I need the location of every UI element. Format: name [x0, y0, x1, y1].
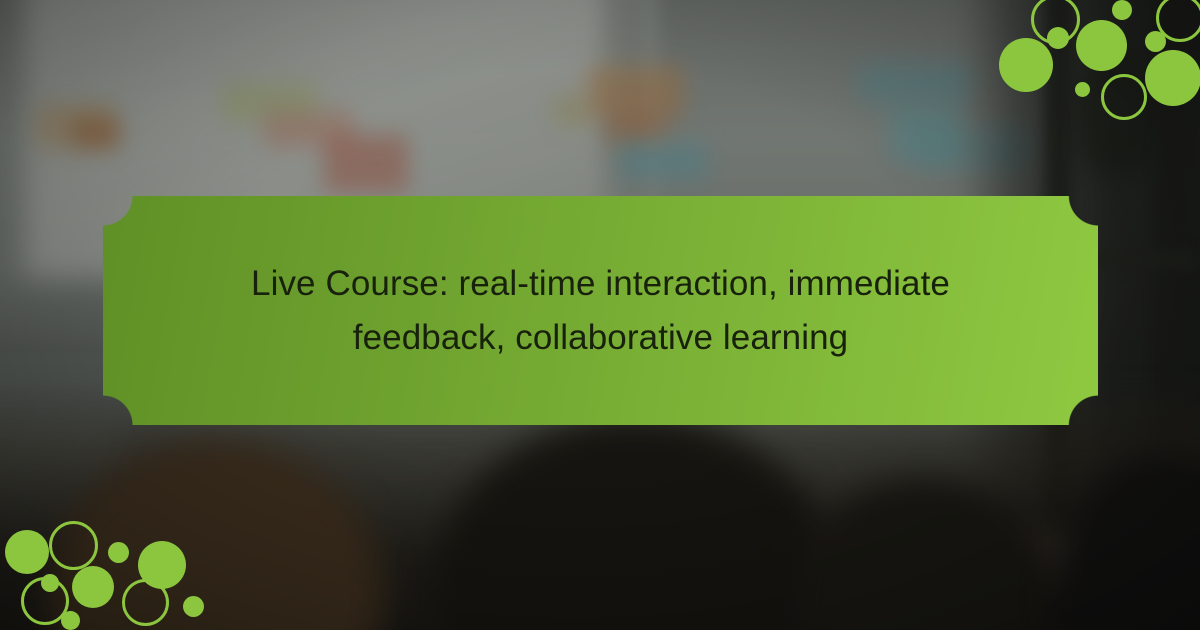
headline-banner: Live Course: real-time interaction, imme… — [103, 196, 1098, 425]
banner-canvas: Live Course: real-time interaction, imme… — [0, 0, 1200, 630]
decorative-circle-filled — [1076, 20, 1127, 71]
decorative-circle-outline — [1031, 0, 1080, 44]
decorative-circle-filled — [5, 530, 49, 574]
decorative-circle-filled — [1145, 50, 1200, 106]
banner-headline: Live Course: real-time interaction, imme… — [103, 196, 1098, 425]
decorative-circle-filled — [72, 566, 114, 608]
decorative-circle-filled — [1145, 31, 1166, 52]
decorative-circle-filled — [61, 611, 80, 630]
decorative-circle-outline — [122, 579, 169, 626]
decorative-circle-filled — [41, 574, 59, 592]
decorative-circle-filled — [108, 542, 129, 563]
decorative-circle-outline — [1101, 74, 1147, 120]
decorative-circle-filled — [1075, 82, 1090, 97]
decorative-circle-filled — [183, 596, 204, 617]
decorative-circle-filled — [999, 38, 1053, 92]
decorative-circle-outline — [49, 521, 98, 570]
decorative-circle-filled — [1112, 0, 1132, 20]
